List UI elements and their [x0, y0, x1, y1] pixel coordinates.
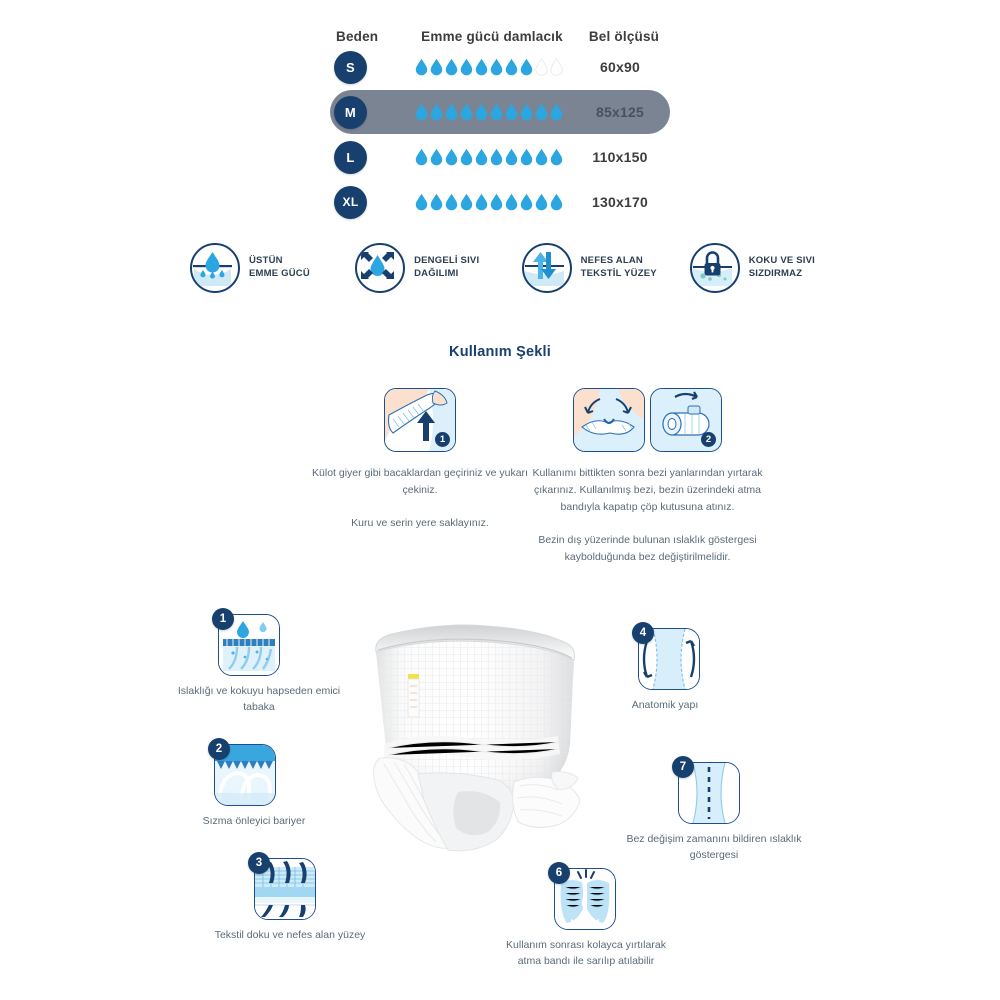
size-badge-s: S [334, 51, 367, 84]
size-row-m[interactable]: M85x125 [330, 90, 670, 134]
droplet-icon [475, 148, 488, 166]
callout-6-number: 6 [548, 862, 570, 884]
droplet-icon [520, 148, 533, 166]
size-table-header: Beden Emme gücü damlacık Bel ölçüsü [330, 14, 670, 44]
size-badge-l: L [334, 141, 367, 174]
waist-size: 110x150 [574, 149, 666, 165]
droplet-icon [535, 148, 548, 166]
callout-3-number: 3 [248, 852, 270, 874]
droplet-rating [404, 58, 574, 76]
tear-sides-illustration [573, 388, 645, 452]
feature-koku-ve-sivi-sizdirmaz: KOKU VE SIVI SIZDIRMAZ [690, 243, 815, 293]
droplet-rating [404, 193, 574, 211]
callout-3: 3 Tekstil doku ve nefes alan yüzey [248, 852, 438, 943]
callout-6-text: Kullanım sonrası kolayca yırtılarak atma… [496, 937, 676, 970]
droplet-icon [550, 148, 563, 166]
droplet-icon [535, 103, 548, 121]
feature-nefes-alan-tekstil-yuzey: NEFES ALAN TEKSTİL YÜZEY [522, 243, 657, 293]
callout-1-icon-wrap: 1 [212, 608, 278, 674]
droplet-icon [520, 58, 533, 76]
odour-lock-icon [690, 243, 740, 293]
feature-strip: ÜSTÜN EMME GÜCÜ DENGELİ SIVI [190, 243, 815, 293]
waist-size: 85x125 [574, 104, 666, 120]
distribution-arrows-icon [355, 243, 405, 293]
droplet-rating [404, 103, 574, 121]
waist-size: 60x90 [574, 59, 666, 75]
feature-line1: KOKU VE SIVI [749, 255, 815, 266]
droplet-icon [505, 103, 518, 121]
feature-label-dengeli-sivi-dagilimi: DENGELİ SIVI DAĞILIMI [414, 255, 479, 280]
callout-4-text: Anatomik yapı [580, 697, 750, 713]
size-row-l[interactable]: L110x150 [330, 135, 670, 179]
droplet-icon [550, 58, 563, 76]
usage-step-2-text-2: Bezin dış yüzerinde bulunan ıslaklık gös… [525, 532, 770, 566]
feature-line2: TEKSTİL YÜZEY [581, 268, 657, 279]
callout-4-icon-wrap: 4 [632, 622, 698, 688]
callout-1-text: Islaklığı ve kokuyu hapseden emici tabak… [164, 683, 354, 716]
droplet-icon [520, 103, 533, 121]
feature-ustun-emme-gucu: ÜSTÜN EMME GÜCÜ [190, 243, 310, 293]
droplet-icon [520, 193, 533, 211]
droplet-icon [475, 193, 488, 211]
size-badge-m: M [334, 96, 367, 129]
droplet-icon [475, 58, 488, 76]
usage-step-2-images: 2 [525, 388, 770, 452]
droplet-icon [430, 193, 443, 211]
droplet-icon [445, 103, 458, 121]
pull-up-wearing-illustration: 1 [384, 388, 456, 452]
feature-line2: EMME GÜCÜ [249, 268, 310, 279]
feature-label-nefes-alan-tekstil-yuzey: NEFES ALAN TEKSTİL YÜZEY [581, 255, 657, 280]
header-beden: Beden [330, 29, 406, 44]
droplet-icon [460, 148, 473, 166]
callout-4-number: 4 [632, 622, 654, 644]
droplet-icon [550, 103, 563, 121]
droplet-icon [415, 58, 428, 76]
breathable-arrows-icon [522, 243, 572, 293]
usage-step-2: 2 Kullanımı bittikten sonra bezi yanları… [525, 388, 770, 566]
feature-spacer [657, 243, 690, 293]
feature-label-koku-ve-sivi-sizdirmaz: KOKU VE SIVI SIZDIRMAZ [749, 255, 815, 280]
infographic-page: Beden Emme gücü damlacık Bel ölçüsü S60x… [0, 0, 1000, 1000]
roll-and-dispose-illustration: 2 [650, 388, 722, 452]
droplet-icon [430, 148, 443, 166]
usage-step-1: 1 Külot giyer gibi bacaklardan geçiriniz… [300, 388, 540, 532]
header-emme: Emme gücü damlacık [406, 29, 578, 44]
feature-spacer [479, 243, 521, 293]
droplet-icon [460, 58, 473, 76]
feature-line2: SIZDIRMAZ [749, 268, 803, 279]
droplet-icon [430, 58, 443, 76]
droplet-rating [404, 148, 574, 166]
droplet-icon [490, 58, 503, 76]
usage-step-1-number: 1 [435, 432, 450, 447]
droplet-icon [445, 193, 458, 211]
callout-7: 7 Bez değişim zamanını bildiren ıslaklık… [672, 756, 862, 864]
droplet-icon [490, 148, 503, 166]
callout-2-icon-wrap: 2 [208, 738, 274, 804]
callout-2: 2 Sızma önleyici bariyer [208, 738, 398, 829]
callout-6-icon-wrap: 6 [548, 862, 614, 928]
usage-step-1-text-2: Kuru ve serin yere saklayınız. [300, 515, 540, 532]
callout-2-text: Sızma önleyici bariyer [164, 813, 344, 829]
droplet-icon [445, 58, 458, 76]
size-badge-cell: S [334, 51, 404, 84]
droplet-icon [505, 58, 518, 76]
callout-7-icon-wrap: 7 [672, 756, 738, 822]
droplet-icon [460, 103, 473, 121]
size-row-xl[interactable]: XL130x170 [330, 180, 670, 224]
droplet-icon [490, 103, 503, 121]
waist-size: 130x170 [574, 194, 666, 210]
header-bel: Bel ölçüsü [578, 29, 670, 44]
droplet-icon [535, 193, 548, 211]
callout-1: 1 Islaklığı ve kokuyu hapseden emici tab… [212, 608, 402, 716]
callout-2-number: 2 [208, 738, 230, 760]
feature-line1: ÜSTÜN [249, 255, 283, 266]
size-badge-cell: XL [334, 186, 404, 219]
droplet-icon [550, 193, 563, 211]
droplet-icon [535, 58, 548, 76]
droplet-icon [475, 103, 488, 121]
size-badge-cell: M [334, 96, 404, 129]
usage-step-1-text-1: Külot giyer gibi bacaklardan geçiriniz v… [300, 465, 540, 499]
feature-spacer [310, 243, 355, 293]
size-table-body: S60x90M85x125L110x150XL130x170 [330, 45, 670, 224]
callout-7-text: Bez değişim zamanını bildiren ıslaklık g… [624, 831, 804, 864]
callout-4: 4 Anatomik yapı [632, 622, 822, 713]
droplet-icon [490, 193, 503, 211]
size-table: Beden Emme gücü damlacık Bel ölçüsü S60x… [330, 14, 670, 224]
callout-3-icon-wrap: 3 [248, 852, 314, 918]
droplet-icon [445, 148, 458, 166]
droplet-icon [505, 193, 518, 211]
absorption-drop-icon [190, 243, 240, 293]
callout-6: 6 Kullanım sonrası kolayca yırtılarak at… [548, 862, 738, 970]
droplet-icon [415, 148, 428, 166]
size-badge-cell: L [334, 141, 404, 174]
callout-7-number: 7 [672, 756, 694, 778]
droplet-icon [430, 103, 443, 121]
usage-step-2-number: 2 [701, 432, 716, 447]
usage-section-title: Kullanım Şekli [0, 344, 1000, 360]
feature-line1: NEFES ALAN [581, 255, 643, 266]
feature-dengeli-sivi-dagilimi: DENGELİ SIVI DAĞILIMI [355, 243, 479, 293]
wetness-indicator-strip [408, 674, 419, 679]
droplet-icon [505, 148, 518, 166]
feature-label-ustun-emme-gucu: ÜSTÜN EMME GÜCÜ [249, 255, 310, 280]
callout-3-text: Tekstil doku ve nefes alan yüzey [200, 927, 380, 943]
size-badge-xl: XL [334, 186, 367, 219]
usage-step-1-images: 1 [300, 388, 540, 452]
size-row-s[interactable]: S60x90 [330, 45, 670, 89]
droplet-icon [415, 193, 428, 211]
usage-step-2-text-1: Kullanımı bittikten sonra bezi yanlarınd… [525, 465, 770, 516]
droplet-icon [460, 193, 473, 211]
feature-line2: DAĞILIMI [414, 268, 458, 279]
droplet-icon [415, 103, 428, 121]
feature-line1: DENGELİ SIVI [414, 255, 479, 266]
callout-1-number: 1 [212, 608, 234, 630]
